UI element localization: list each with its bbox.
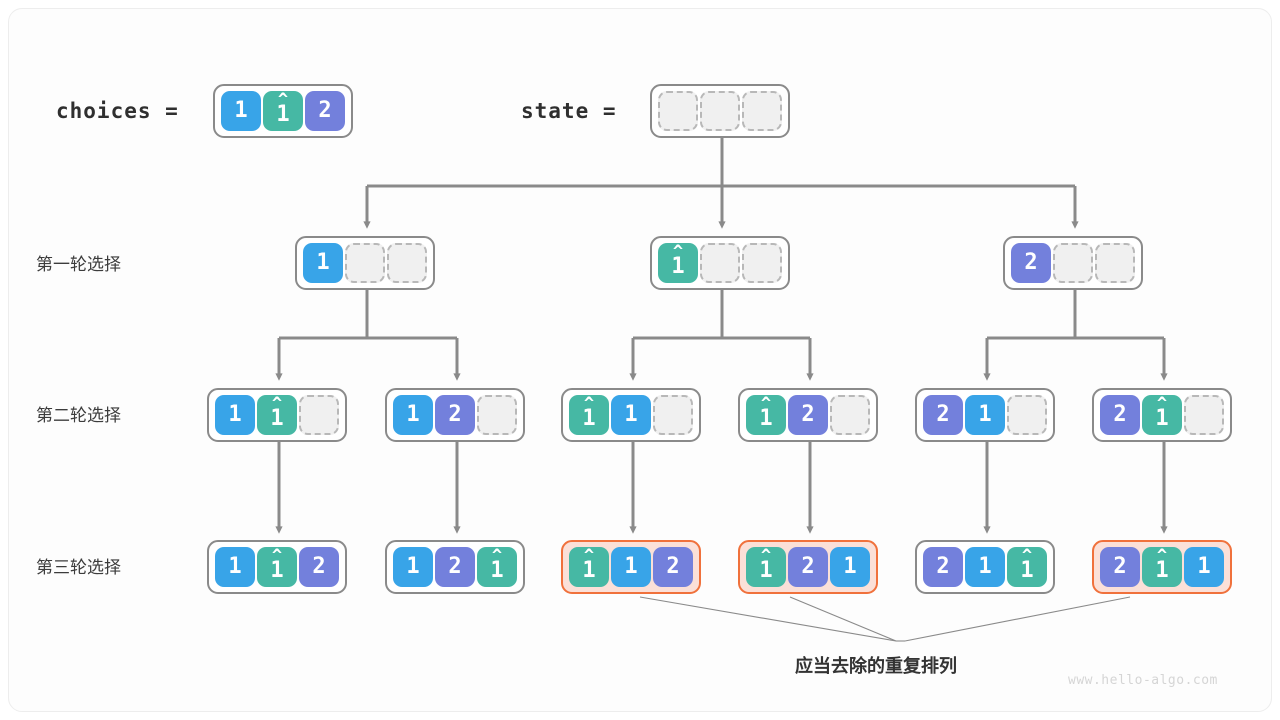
array-cell-value: 1 <box>624 556 637 578</box>
array-cell-2: 2 <box>305 91 345 131</box>
choices-array: 1^12 <box>213 84 353 138</box>
tree-node: 2 <box>1003 236 1143 290</box>
site-watermark: www.hello-algo.com <box>1068 673 1218 688</box>
circumflex-icon: ^ <box>746 548 786 565</box>
array-cell-value: 1 <box>978 556 991 578</box>
array-cell-value: 1 <box>406 404 419 426</box>
array-cell-empty <box>1095 243 1135 283</box>
array-cell-1: 1 <box>965 395 1005 435</box>
array-cell-2: 2 <box>653 547 693 587</box>
diagram-frame <box>8 8 1272 712</box>
state-array <box>650 84 790 138</box>
tree-node: ^12 <box>738 388 878 442</box>
array-cell-1: 1 <box>215 395 255 435</box>
tree-node: 1 <box>295 236 435 290</box>
array-cell-2: 2 <box>435 547 475 587</box>
array-cell-value: 2 <box>448 404 461 426</box>
array-cell-empty <box>742 243 782 283</box>
circumflex-icon: ^ <box>263 92 303 109</box>
array-cell-2: 2 <box>788 547 828 587</box>
array-cell-empty <box>653 395 693 435</box>
array-cell-1-hat: ^1 <box>1007 547 1047 587</box>
array-cell-2: 2 <box>923 547 963 587</box>
array-cell-1-hat: ^1 <box>477 547 517 587</box>
array-cell-2: 2 <box>435 395 475 435</box>
array-cell-2: 2 <box>1100 395 1140 435</box>
tree-node: 1^1 <box>207 388 347 442</box>
array-cell-empty <box>658 91 698 131</box>
array-cell-empty <box>830 395 870 435</box>
array-cell-empty <box>1184 395 1224 435</box>
array-cell-empty <box>700 243 740 283</box>
array-cell-1: 1 <box>611 547 651 587</box>
array-cell-1-hat: ^1 <box>746 395 786 435</box>
tree-node: 1^12 <box>207 540 347 594</box>
array-cell-2: 2 <box>788 395 828 435</box>
tree-node-duplicate: ^112 <box>561 540 701 594</box>
array-cell-empty <box>387 243 427 283</box>
array-cell-1: 1 <box>965 547 1005 587</box>
array-cell-1: 1 <box>393 547 433 587</box>
array-cell-1-hat: ^1 <box>257 547 297 587</box>
circumflex-icon: ^ <box>658 244 698 261</box>
array-cell-value: 2 <box>312 556 325 578</box>
row-label-level-2: 第二轮选择 <box>36 401 121 426</box>
array-cell-2: 2 <box>923 395 963 435</box>
tree-node: ^1 <box>650 236 790 290</box>
tree-node-duplicate: ^121 <box>738 540 878 594</box>
tree-node: 21 <box>915 388 1055 442</box>
array-cell-1: 1 <box>1184 547 1224 587</box>
array-cell-value: 2 <box>936 556 949 578</box>
array-cell-value: 1 <box>228 556 241 578</box>
circumflex-icon: ^ <box>569 396 609 413</box>
tree-node-duplicate: 2^11 <box>1092 540 1232 594</box>
circumflex-icon: ^ <box>257 396 297 413</box>
array-cell-1: 1 <box>611 395 651 435</box>
circumflex-icon: ^ <box>477 548 517 565</box>
array-cell-2: 2 <box>1011 243 1051 283</box>
array-cell-1: 1 <box>215 547 255 587</box>
diagram-canvas: choices = 1^12 state = 第一轮选择 第二轮选择 第三轮选择… <box>0 0 1280 720</box>
array-cell-1-hat: ^1 <box>746 547 786 587</box>
array-cell-1: 1 <box>393 395 433 435</box>
array-cell-empty <box>1053 243 1093 283</box>
circumflex-icon: ^ <box>1142 396 1182 413</box>
array-cell-value: 2 <box>448 556 461 578</box>
array-cell-value: 2 <box>936 404 949 426</box>
array-cell-value: 1 <box>978 404 991 426</box>
array-cell-2: 2 <box>299 547 339 587</box>
row-label-level-3: 第三轮选择 <box>36 553 121 578</box>
array-cell-value: 1 <box>406 556 419 578</box>
array-cell-empty <box>1007 395 1047 435</box>
array-cell-value: 1 <box>1197 556 1210 578</box>
array-cell-value: 1 <box>316 252 329 274</box>
array-cell-empty <box>742 91 782 131</box>
array-cell-1-hat: ^1 <box>263 91 303 131</box>
array-cell-empty <box>299 395 339 435</box>
array-cell-1-hat: ^1 <box>658 243 698 283</box>
circumflex-icon: ^ <box>746 396 786 413</box>
array-cell-value: 2 <box>318 100 331 122</box>
array-cell-value: 2 <box>666 556 679 578</box>
row-label-level-1: 第一轮选择 <box>36 250 121 275</box>
array-cell-1-hat: ^1 <box>569 547 609 587</box>
array-cell-empty <box>345 243 385 283</box>
array-cell-value: 2 <box>1113 556 1126 578</box>
array-cell-value: 2 <box>1113 404 1126 426</box>
array-cell-value: 1 <box>228 404 241 426</box>
array-cell-2: 2 <box>1100 547 1140 587</box>
array-cell-value: 2 <box>1024 252 1037 274</box>
tree-node: 12^1 <box>385 540 525 594</box>
circumflex-icon: ^ <box>257 548 297 565</box>
array-cell-1-hat: ^1 <box>257 395 297 435</box>
array-cell-empty <box>700 91 740 131</box>
tree-node: ^11 <box>561 388 701 442</box>
tree-node: 12 <box>385 388 525 442</box>
array-cell-empty <box>477 395 517 435</box>
array-cell-1-hat: ^1 <box>569 395 609 435</box>
choices-label: choices = <box>56 99 179 123</box>
duplicate-removal-caption: 应当去除的重复排列 <box>795 652 957 678</box>
array-cell-1: 1 <box>303 243 343 283</box>
array-cell-1: 1 <box>221 91 261 131</box>
state-label: state = <box>521 99 617 123</box>
tree-node: 2^1 <box>1092 388 1232 442</box>
array-cell-value: 2 <box>801 404 814 426</box>
array-cell-value: 1 <box>234 100 247 122</box>
tree-node: 21^1 <box>915 540 1055 594</box>
array-cell-value: 2 <box>801 556 814 578</box>
array-cell-1-hat: ^1 <box>1142 547 1182 587</box>
array-cell-value: 1 <box>843 556 856 578</box>
circumflex-icon: ^ <box>1007 548 1047 565</box>
array-cell-1: 1 <box>830 547 870 587</box>
array-cell-1-hat: ^1 <box>1142 395 1182 435</box>
circumflex-icon: ^ <box>1142 548 1182 565</box>
array-cell-value: 1 <box>624 404 637 426</box>
circumflex-icon: ^ <box>569 548 609 565</box>
